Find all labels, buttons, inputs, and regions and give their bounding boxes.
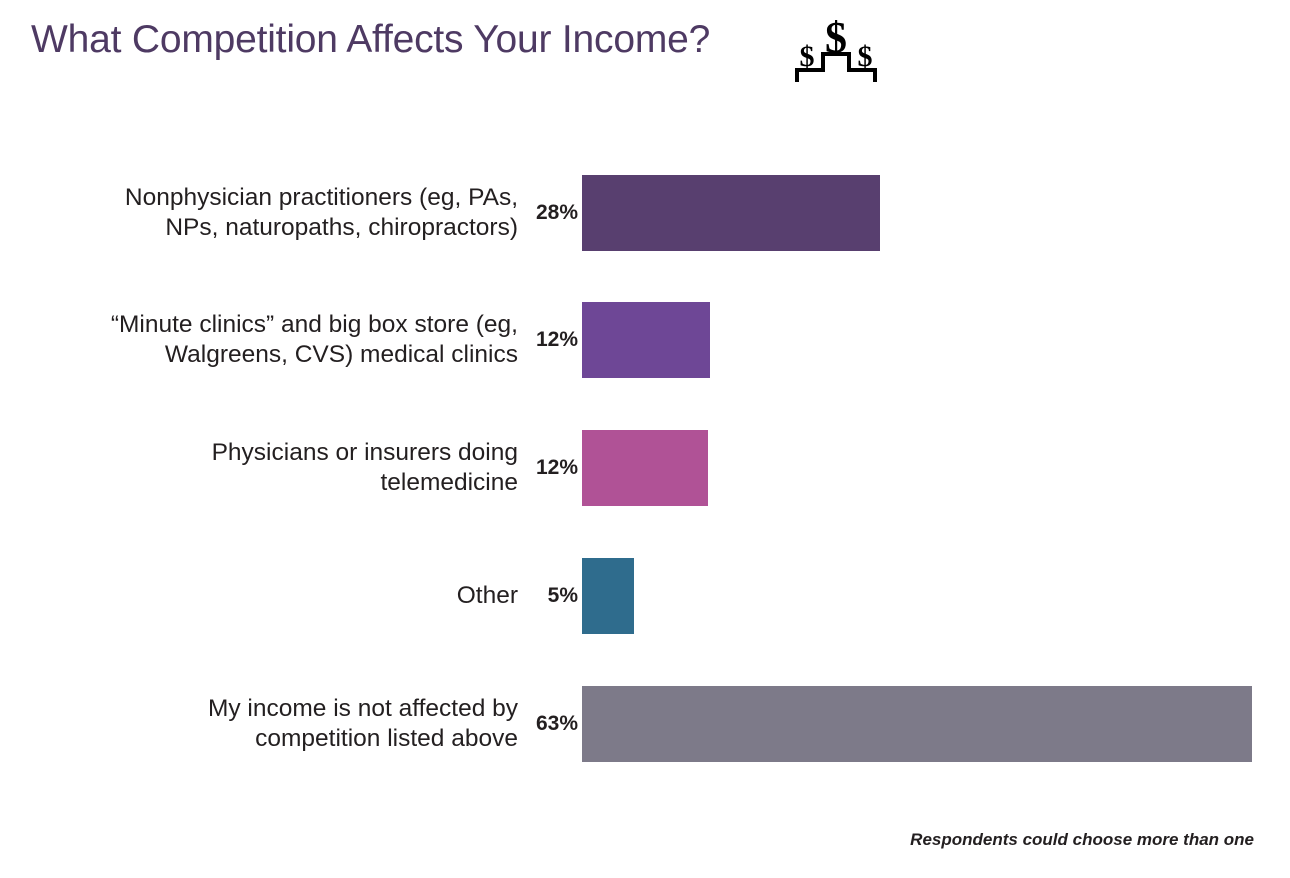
bar-value-label: 63% (536, 712, 578, 736)
bar-row: My income is not affected by competition… (0, 686, 1290, 762)
bar-row: Nonphysician practitioners (eg, PAs, NPs… (0, 175, 1290, 251)
bar-category-label: Nonphysician practitioners (eg, PAs, NPs… (48, 183, 518, 243)
bar-value-label: 12% (536, 456, 578, 480)
bar-category-label: Other (48, 581, 518, 611)
footnote-text: Respondents could choose more than one (910, 830, 1254, 850)
bar-income-not-affected[interactable] (582, 686, 1252, 762)
bar-value-label: 28% (536, 201, 578, 225)
horizontal-bar-chart: Nonphysician practitioners (eg, PAs, NPs… (0, 0, 1290, 878)
bar-category-label: Physicians or insurers doing telemedicin… (48, 438, 518, 498)
bar-row: Other 5% (0, 558, 1290, 634)
bar-value-label: 12% (536, 328, 578, 352)
bar-row: “Minute clinics” and big box store (eg, … (0, 302, 1290, 378)
bar-minute-clinics[interactable] (582, 302, 710, 378)
bar-row: Physicians or insurers doing telemedicin… (0, 430, 1290, 506)
bar-nonphysician-practitioners[interactable] (582, 175, 880, 251)
bar-category-label: My income is not affected by competition… (48, 694, 518, 754)
bar-telemedicine[interactable] (582, 430, 708, 506)
bar-other[interactable] (582, 558, 634, 634)
bar-category-label: “Minute clinics” and big box store (eg, … (48, 310, 518, 370)
bar-value-label: 5% (548, 584, 578, 608)
